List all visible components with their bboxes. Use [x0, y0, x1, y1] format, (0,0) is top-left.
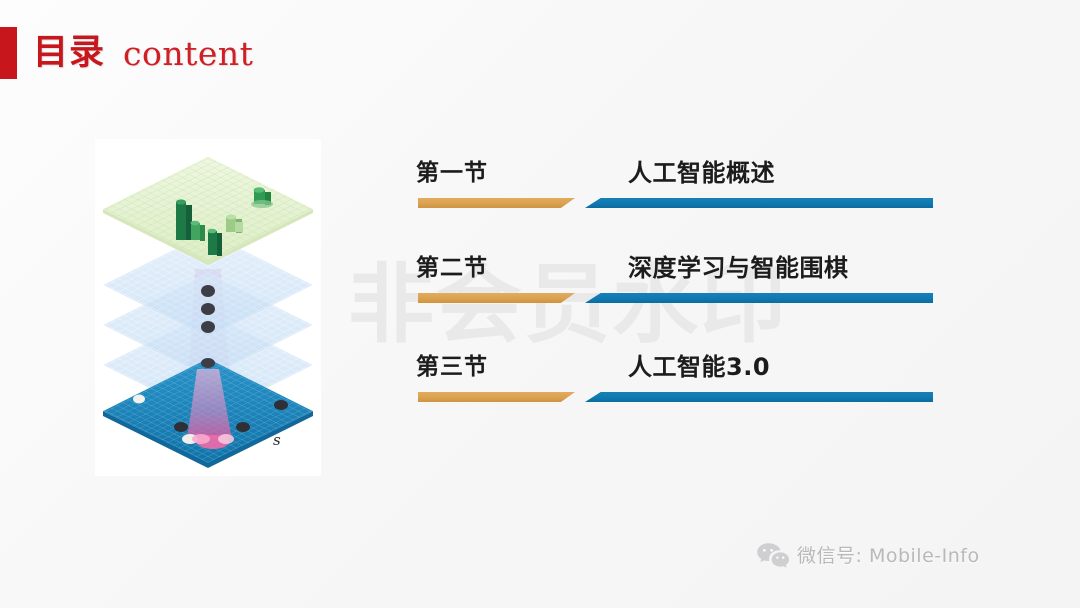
agenda-item-3[interactable]: 第三节 人工智能3.0 — [416, 352, 936, 404]
agenda-item-2-orange-bar — [418, 293, 575, 303]
agenda-list: 第一节 人工智能概述 第二节 深度学习与智能围棋 第三节 人工智能3.0 — [0, 0, 1080, 608]
footer-text: 微信号: Mobile-Info — [797, 547, 980, 566]
agenda-item-1-section: 第一节 — [416, 158, 488, 188]
agenda-item-3-title: 人工智能3.0 — [628, 350, 770, 384]
agenda-item-1-blue-bar — [585, 198, 933, 208]
wechat-icon — [756, 542, 790, 570]
agenda-item-2-blue-bar — [585, 293, 933, 303]
agenda-item-3-blue-bar — [585, 392, 933, 402]
agenda-item-1[interactable]: 第一节 人工智能概述 — [416, 158, 936, 210]
agenda-item-2-section: 第二节 — [416, 253, 488, 283]
agenda-item-1-orange-bar — [418, 198, 575, 208]
agenda-item-3-orange-bar — [418, 392, 575, 402]
agenda-item-2[interactable]: 第二节 深度学习与智能围棋 — [416, 253, 936, 305]
agenda-item-3-section: 第三节 — [416, 352, 488, 382]
agenda-item-1-title: 人工智能概述 — [628, 156, 775, 190]
agenda-item-2-title: 深度学习与智能围棋 — [628, 251, 849, 285]
footer-wechat: 微信号: Mobile-Info — [756, 539, 980, 573]
slide-root: 目录 content 非会员水印 — [0, 0, 1080, 608]
